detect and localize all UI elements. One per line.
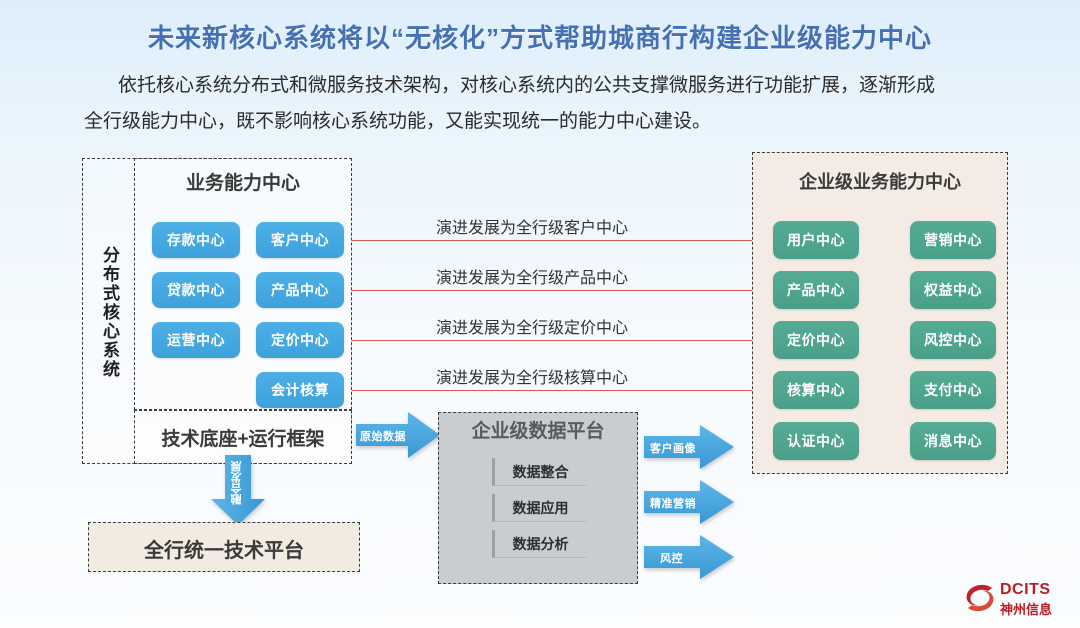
logo-text-cn: 神州信息 [1000,599,1052,618]
data-platform-item-application[interactable]: 数据应用 [492,494,586,522]
chip-ent-auth-center[interactable]: 认证中心 [773,422,859,460]
output-arrow-customer-profile: 客户画像 [644,423,734,471]
distributed-core-system-label: 分布式核心系统 [84,200,134,425]
evolution-label-1: 演进发展为全行级客户中心 [436,214,628,238]
logo-text-en: DCITS [1000,581,1051,599]
dcits-logo: DCITS 神州信息 [962,580,1074,620]
enterprise-capability-center-title: 企业级业务能力中心 [752,168,1008,194]
raw-data-arrow: 原始数据 [356,409,440,461]
chip-ent-risk-center[interactable]: 风控中心 [910,321,996,359]
output-arrow-label-3: 风控 [660,550,683,566]
evolution-label-2: 演进发展为全行级产品中心 [436,264,628,288]
evolution-line-4 [352,390,752,391]
business-capability-center-title: 业务能力中心 [134,168,352,195]
chip-ent-pricing-center[interactable]: 定价中心 [773,321,859,359]
data-platform-item-analysis[interactable]: 数据分析 [492,530,586,558]
evolution-line-3 [352,340,752,341]
integration-arrow: 融合发展 [203,455,273,525]
page-subtitle: 依托核心系统分布式和微服务技术架构，对核心系统内的公共支撑微服务进行功能扩展，逐… [84,68,1014,140]
unified-technology-platform-label: 全行统一技术平台 [88,534,360,563]
dcits-swirl-icon [962,580,998,616]
chip-loan-center[interactable]: 贷款中心 [152,272,240,308]
evolution-line-1 [352,240,752,241]
slide-canvas: 未来新核心系统将以“无核化”方式帮助城商行构建企业级能力中心 依托核心系统分布式… [0,0,1080,628]
chip-customer-center[interactable]: 客户中心 [256,222,344,258]
data-platform-item-integration[interactable]: 数据整合 [492,458,586,486]
tech-base-label: 技术底座+运行框架 [134,424,352,451]
integration-arrow-label: 融合发展 [229,461,245,505]
evolution-label-3: 演进发展为全行级定价中心 [436,314,628,338]
chip-accounting-center[interactable]: 会计核算 [256,372,344,408]
chip-ent-user-center[interactable]: 用户中心 [773,221,859,259]
chip-pricing-center[interactable]: 定价中心 [256,322,344,358]
subtitle-line-1: 依托核心系统分布式和微服务技术架构，对核心系统内的公共支撑微服务进行功能扩展，逐… [118,75,935,96]
chip-ent-message-center[interactable]: 消息中心 [910,422,996,460]
chip-product-center[interactable]: 产品中心 [256,272,344,308]
evolution-line-2 [352,290,752,291]
output-arrow-label-1: 客户画像 [650,440,696,456]
chip-ent-product-center[interactable]: 产品中心 [773,271,859,309]
chip-ent-marketing-center[interactable]: 营销中心 [910,221,996,259]
chip-operation-center[interactable]: 运营中心 [152,322,240,358]
output-arrow-label-2: 精准营销 [650,495,696,511]
evolution-label-4: 演进发展为全行级核算中心 [436,364,628,388]
subtitle-line-2: 全行级能力中心，既不影响核心系统功能，又能实现统一的能力中心建设。 [84,111,711,132]
chip-deposit-center[interactable]: 存款中心 [152,222,240,258]
enterprise-data-platform-title: 企业级数据平台 [438,416,638,443]
output-arrow-risk-control: 风控 [644,533,734,581]
chip-ent-rights-center[interactable]: 权益中心 [910,271,996,309]
chip-ent-accounting-center[interactable]: 核算中心 [773,371,859,409]
page-title: 未来新核心系统将以“无核化”方式帮助城商行构建企业级能力中心 [0,18,1080,55]
raw-data-arrow-label: 原始数据 [360,428,406,444]
output-arrow-precision-marketing: 精准营销 [644,478,734,526]
chip-ent-payment-center[interactable]: 支付中心 [910,371,996,409]
